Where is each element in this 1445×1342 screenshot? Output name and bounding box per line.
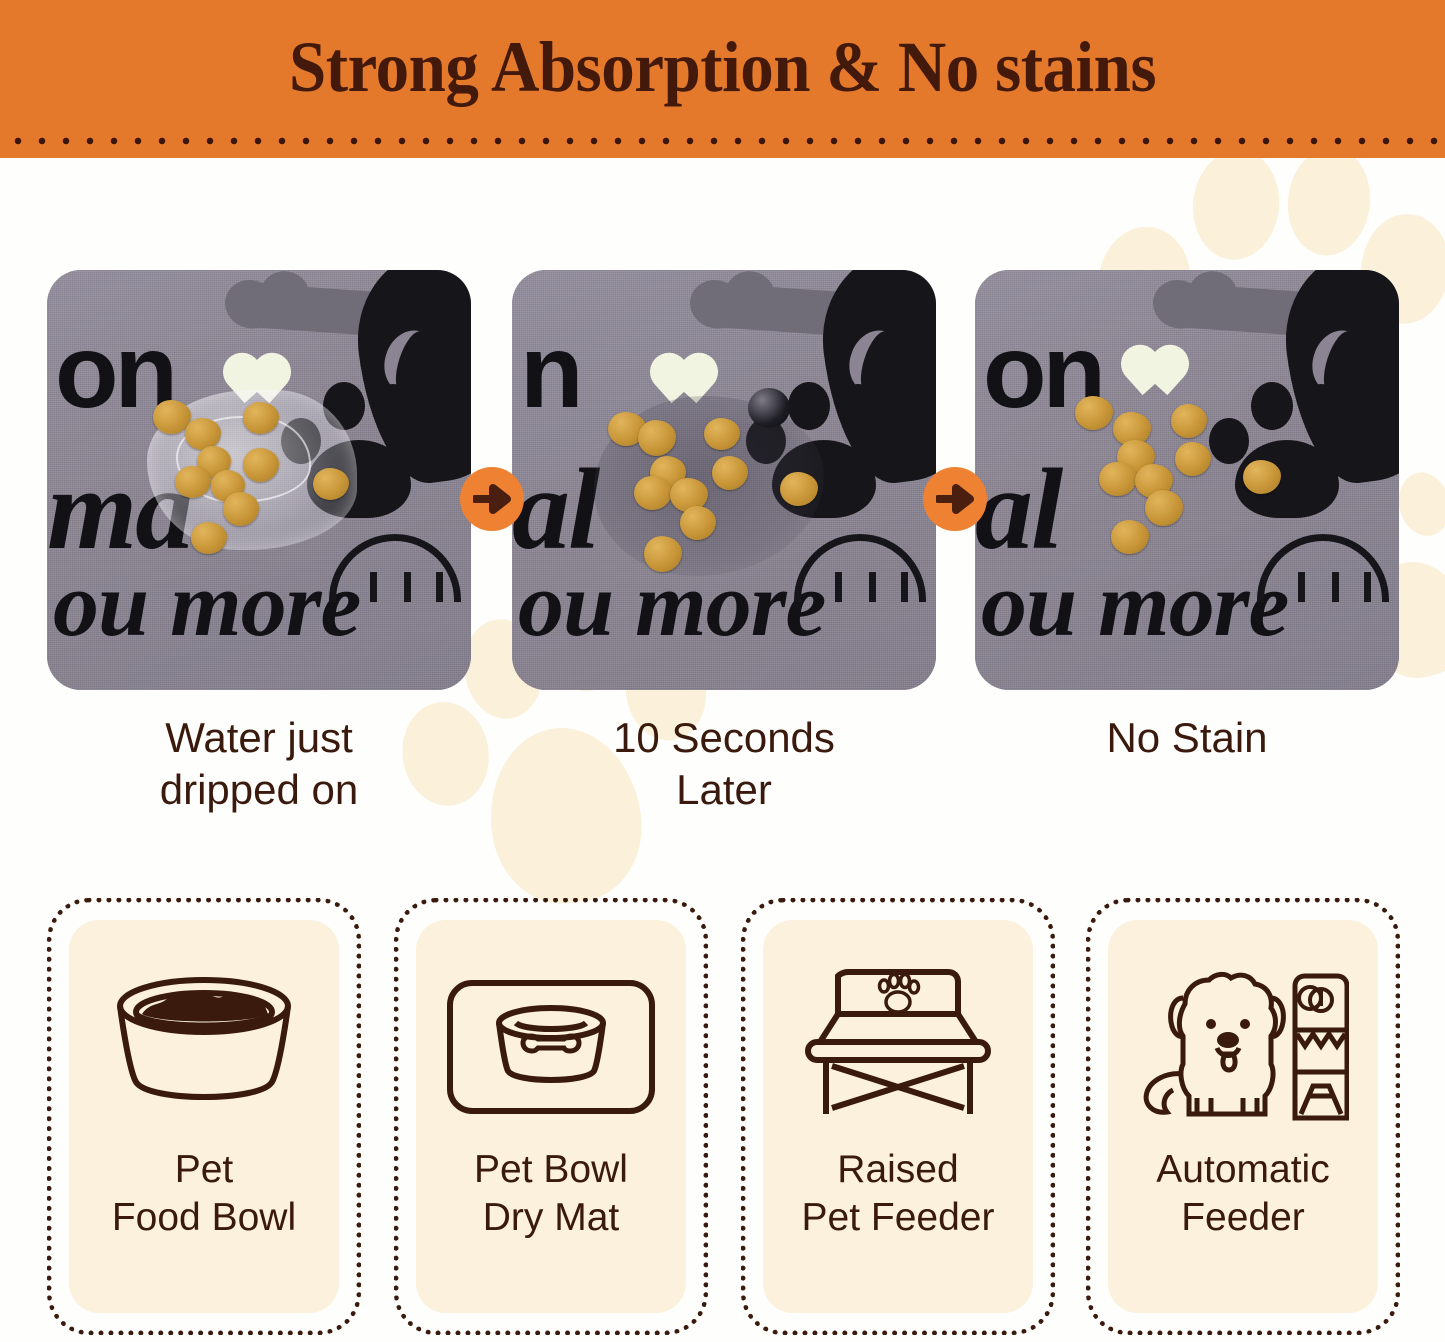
caption-line: 10 Seconds	[512, 712, 936, 764]
label-line: Automatic	[1156, 1146, 1329, 1194]
caption-line: Later	[512, 764, 936, 816]
mat-text-fragment: ou more	[53, 558, 360, 650]
absorption-demo-photo-row: on ma ou more	[0, 270, 1445, 690]
pet-bowl-dry-mat-icon	[446, 962, 656, 1132]
feature-card-label: Pet Bowl Dry Mat	[474, 1146, 628, 1243]
header-banner: Strong Absorption & No stains	[0, 0, 1445, 158]
step-arrow-icon	[460, 467, 524, 531]
paw-toe	[1283, 158, 1376, 260]
feature-card-pet-bowl-dry-mat[interactable]: Pet Bowl Dry Mat	[394, 898, 708, 1335]
label-line: Raised	[802, 1146, 995, 1194]
demo-caption-step-3: No Stain	[975, 712, 1399, 764]
page-title: Strong Absorption & No stains	[51, 26, 1395, 109]
automatic-feeder-icon	[1137, 962, 1349, 1132]
label-line: Pet Feeder	[802, 1194, 995, 1242]
water-bead	[748, 388, 790, 428]
feature-card-pet-food-bowl[interactable]: Pet Food Bowl	[47, 898, 361, 1335]
mat-text-fragment: al	[512, 464, 598, 557]
black-paw-print-graphic	[1203, 378, 1379, 528]
feature-card-label: Raised Pet Feeder	[802, 1146, 995, 1243]
label-line: Pet Bowl	[474, 1146, 628, 1194]
mat-text-fragment: on	[55, 332, 174, 413]
label-line: Pet	[112, 1146, 296, 1194]
label-line: Food Bowl	[112, 1194, 296, 1242]
feature-card-row: Pet Food Bowl Pet Bowl Dry Mat	[0, 898, 1445, 1338]
demo-photo-step-2: n al ou more	[512, 270, 936, 690]
feature-card-automatic-feeder[interactable]: Automatic Feeder	[1086, 898, 1400, 1335]
raised-pet-feeder-icon	[798, 962, 998, 1132]
demo-photo-step-1: on ma ou more	[47, 270, 471, 690]
demo-caption-step-2: 10 Seconds Later	[512, 712, 936, 816]
demo-caption-step-1: Water just dripped on	[47, 712, 471, 816]
label-line: Dry Mat	[474, 1194, 628, 1242]
pet-food-bowl-icon	[106, 962, 302, 1132]
mat-text-fragment: al	[975, 464, 1061, 557]
demo-photo-step-3: on al ou more	[975, 270, 1399, 690]
header-dotted-divider	[0, 135, 1445, 147]
white-heart-graphic	[1123, 344, 1189, 406]
feature-card-label: Pet Food Bowl	[112, 1146, 296, 1243]
feature-card-label: Automatic Feeder	[1156, 1146, 1329, 1243]
caption-line: Water just	[47, 712, 471, 764]
mat-text-fragment: ou more	[981, 558, 1288, 650]
paw-toe	[1188, 158, 1285, 264]
feature-card-raised-pet-feeder[interactable]: Raised Pet Feeder	[741, 898, 1055, 1335]
label-line: Feeder	[1156, 1194, 1329, 1242]
step-arrow-icon	[923, 467, 987, 531]
caption-line: dripped on	[47, 764, 471, 816]
mat-text-fragment: n	[520, 332, 580, 413]
caption-line: No Stain	[975, 712, 1399, 764]
